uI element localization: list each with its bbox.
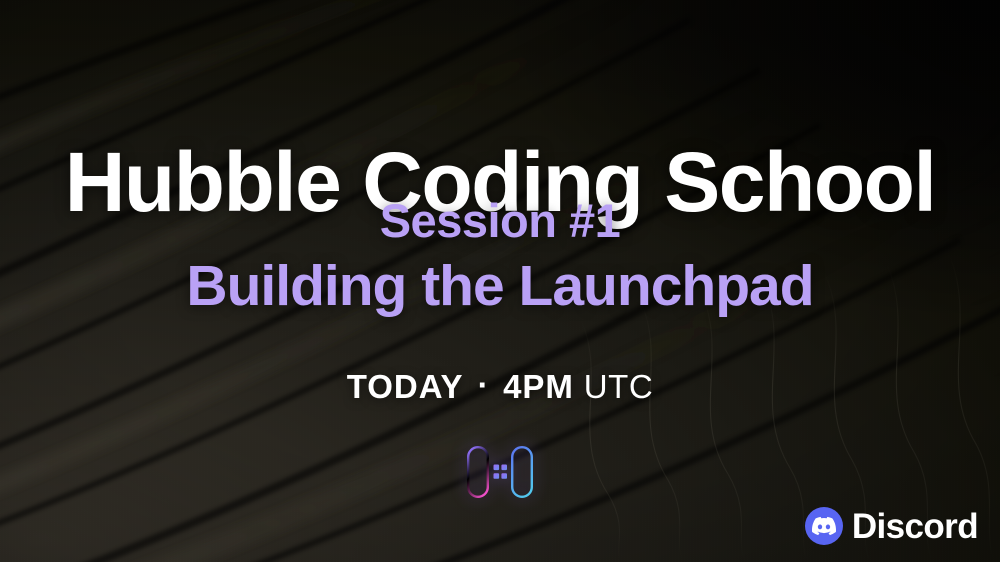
schedule-line: TODAY·4PM UTC bbox=[0, 370, 1000, 403]
discord-wordmark: Discord bbox=[852, 509, 978, 544]
schedule-time: 4PM bbox=[503, 368, 574, 405]
promo-slide: Hubble Coding School Session #1 Building… bbox=[0, 0, 1000, 562]
schedule-day: TODAY bbox=[347, 368, 464, 405]
session-topic: Building the Launchpad bbox=[0, 258, 1000, 315]
discord-icon[interactable] bbox=[805, 507, 843, 545]
discord-lockup[interactable]: Discord bbox=[805, 507, 978, 545]
session-label: Session #1 bbox=[0, 197, 1000, 244]
hubble-logo-icon bbox=[464, 444, 536, 500]
schedule-separator: · bbox=[464, 368, 504, 401]
slide-content: Hubble Coding School Session #1 Building… bbox=[0, 0, 1000, 562]
schedule-timezone: UTC bbox=[574, 368, 653, 405]
